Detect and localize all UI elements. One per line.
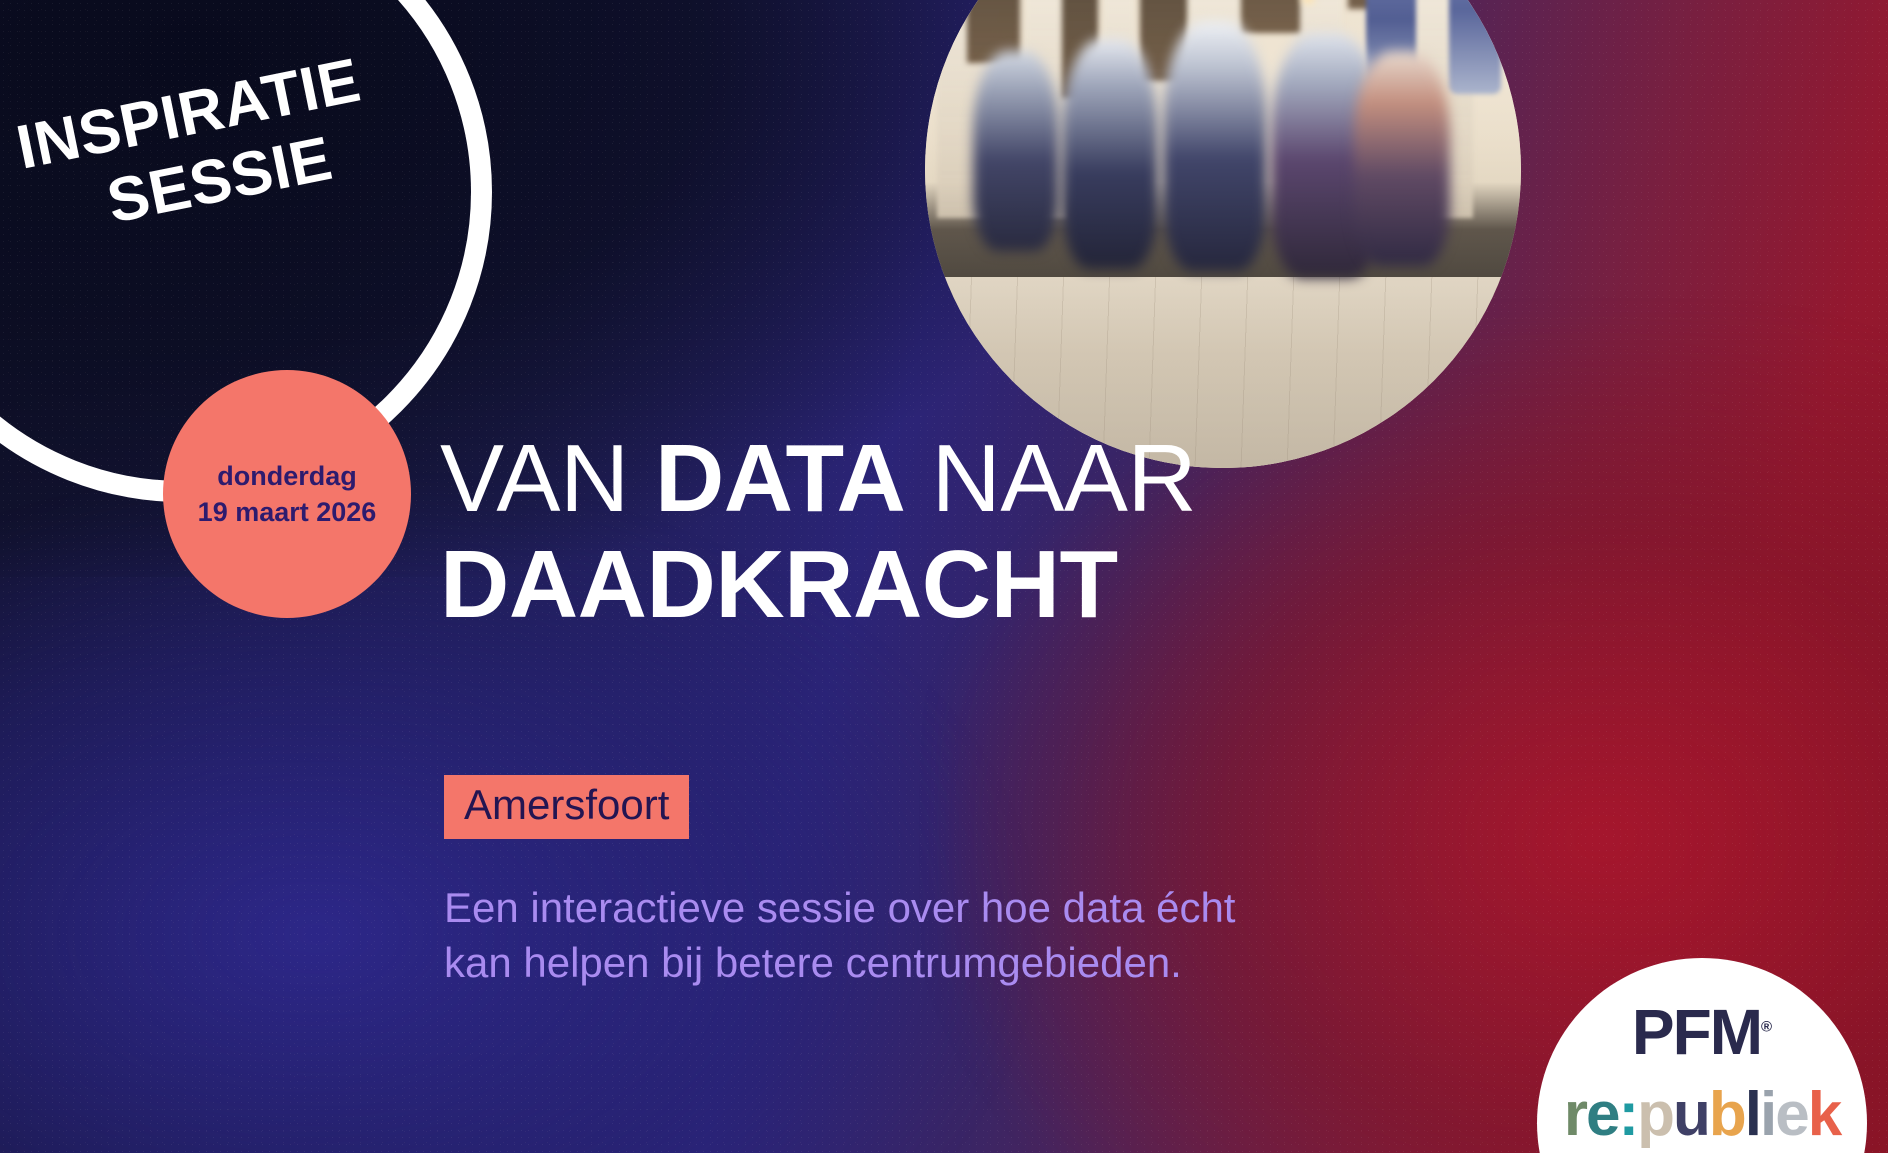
event-promo-banner: INSPIRATIE SESSIE donderdag 19 maart 202…	[0, 0, 1888, 1153]
republiek-letter: k	[1808, 1084, 1840, 1146]
street-photo-image	[925, 0, 1521, 468]
republiek-letter: e	[1586, 1084, 1618, 1146]
republiek-letter: i	[1760, 1084, 1775, 1146]
headline-word-van: VAN	[440, 425, 655, 532]
headline-line-2: DAADKRACHT	[440, 536, 1440, 634]
location-badge: Amersfoort	[444, 775, 689, 839]
registered-trademark-icon: ®	[1761, 1019, 1772, 1036]
subtitle-line-1: Een interactieve sessie over hoe data éc…	[444, 880, 1284, 935]
date-circle: donderdag 19 maart 2026	[163, 370, 411, 618]
pfm-text: PFM	[1632, 996, 1761, 1068]
republiek-letter: e	[1775, 1084, 1807, 1146]
date-value: 19 maart 2026	[198, 494, 377, 530]
republiek-wordmark: r e : p u b l i e k	[1564, 1084, 1840, 1146]
headline-word-naar: NAAR	[905, 425, 1196, 532]
republiek-letter: u	[1673, 1084, 1709, 1146]
date-weekday: donderdag	[217, 458, 357, 494]
headline-word-data: DATA	[655, 425, 905, 532]
photo-overlay	[925, 0, 1521, 468]
subtitle-line-2: kan helpen bij betere centrumgebieden.	[444, 935, 1284, 990]
subtitle: Een interactieve sessie over hoe data éc…	[444, 880, 1284, 991]
republiek-letter: b	[1709, 1084, 1745, 1146]
street-photo-circle	[925, 0, 1521, 468]
republiek-letter: p	[1637, 1084, 1673, 1146]
republiek-letter: l	[1745, 1084, 1760, 1146]
republiek-letter: r	[1564, 1084, 1586, 1146]
republiek-letter: :	[1618, 1084, 1637, 1146]
headline-line-1: VAN DATA NAAR	[440, 430, 1440, 528]
page-title: VAN DATA NAAR DAADKRACHT	[440, 430, 1440, 634]
pfm-wordmark: PFM®	[1632, 1000, 1772, 1064]
